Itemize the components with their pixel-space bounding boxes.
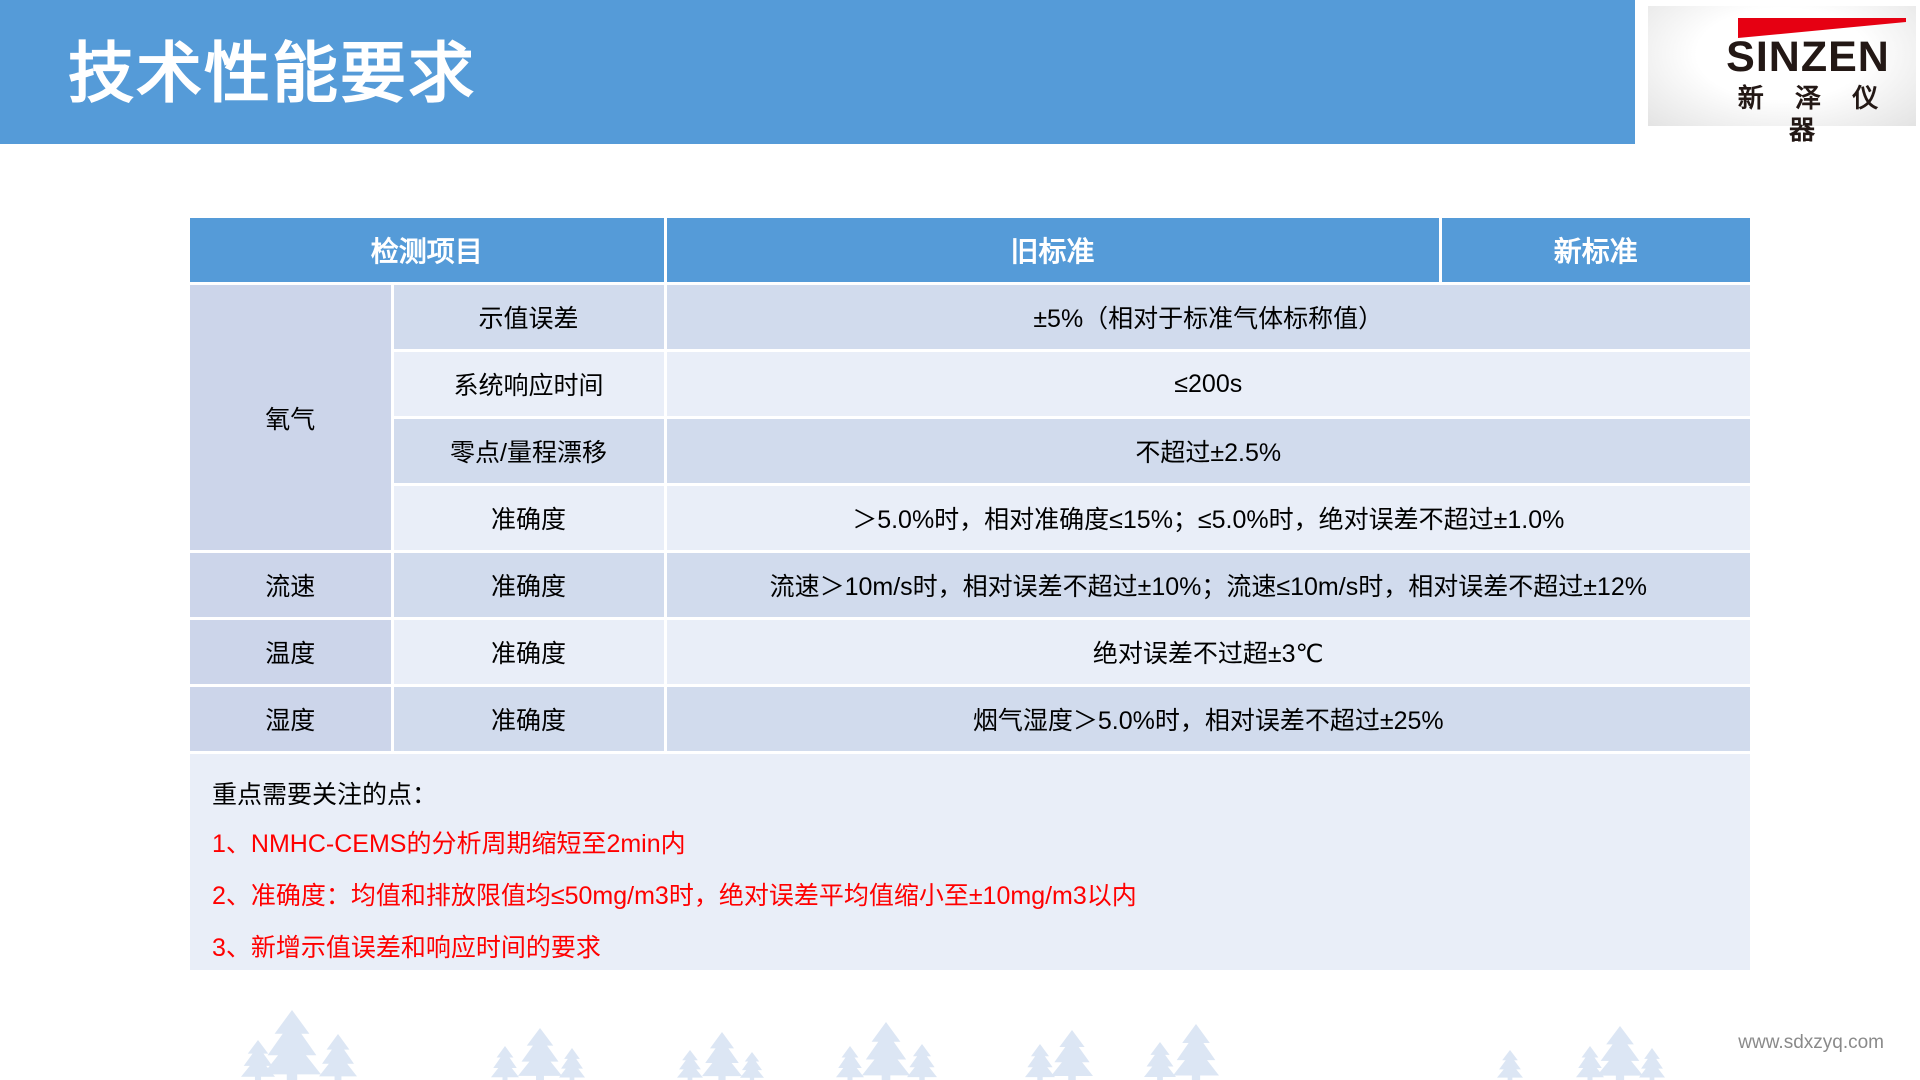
row-item-cell: 系统响应时间 [392,351,665,418]
table-row: 温度准确度绝对误差不过超±3℃ [190,619,1750,686]
page-title: 技术性能要求 [68,14,476,132]
row-value-cell: ±5%（相对于标准气体标称值） [665,284,1750,351]
row-item-cell: 准确度 [392,686,665,752]
note-item-2: 2、准确度：均值和排放限值均≤50mg/m3时，绝对误差平均值缩小至±10mg/… [212,870,1750,922]
table-header-row: 检测项目 旧标准 新标准 [190,218,1750,284]
logo-english-text: SINZEN [1700,32,1916,82]
notes-panel: 重点需要关注的点： 1、NMHC-CEMS的分析周期缩短至2min内 2、准确度… [190,754,1750,970]
tree-decoration [0,960,1920,1080]
header-banner: 技术性能要求 [0,0,1635,144]
row-value-cell: 流速＞10m/s时，相对误差不超过±10%；流速≤10m/s时，相对误差不超过±… [665,552,1750,619]
row-item-cell: 准确度 [392,485,665,552]
logo-chinese-text: 新 泽 仪 器 [1700,82,1916,146]
table-row: 准确度＞5.0%时，相对准确度≤15%；≤5.0%时，绝对误差不超过±1.0% [190,485,1750,552]
row-value-cell: 不超过±2.5% [665,418,1750,485]
note-item-3: 3、新增示值误差和响应时间的要求 [212,922,1750,974]
row-category-cell: 湿度 [190,686,392,752]
row-value-cell: ＞5.0%时，相对准确度≤15%；≤5.0%时，绝对误差不超过±1.0% [665,485,1750,552]
row-category-cell: 氧气 [190,284,392,552]
table-row: 湿度准确度烟气湿度＞5.0%时，相对误差不超过±25% [190,686,1750,752]
row-item-cell: 零点/量程漂移 [392,418,665,485]
row-item-cell: 准确度 [392,552,665,619]
spec-comparison-table: 检测项目 旧标准 新标准 氧气示值误差±5%（相对于标准气体标称值）系统响应时间… [190,218,1750,751]
table-body: 氧气示值误差±5%（相对于标准气体标称值）系统响应时间≤200s零点/量程漂移不… [190,284,1750,752]
table-row: 系统响应时间≤200s [190,351,1750,418]
table-row: 氧气示值误差±5%（相对于标准气体标称值） [190,284,1750,351]
table-row: 流速准确度流速＞10m/s时，相对误差不超过±10%；流速≤10m/s时，相对误… [190,552,1750,619]
note-item-1: 1、NMHC-CEMS的分析周期缩短至2min内 [212,818,1750,870]
footer-website-url: www.sdxzyq.com [1738,1032,1884,1054]
row-item-cell: 示值误差 [392,284,665,351]
column-header-old-standard: 旧标准 [665,218,1440,284]
table-row: 零点/量程漂移不超过±2.5% [190,418,1750,485]
row-value-cell: 烟气湿度＞5.0%时，相对误差不超过±25% [665,686,1750,752]
column-header-new-standard: 新标准 [1440,218,1750,284]
row-item-cell: 准确度 [392,619,665,686]
notes-heading: 重点需要关注的点： [212,772,1750,818]
row-value-cell: 绝对误差不过超±3℃ [665,619,1750,686]
row-value-cell: ≤200s [665,351,1750,418]
row-category-cell: 流速 [190,552,392,619]
column-header-item: 检测项目 [190,218,665,284]
company-logo: SINZEN 新 泽 仪 器 [1648,6,1916,126]
row-category-cell: 温度 [190,619,392,686]
